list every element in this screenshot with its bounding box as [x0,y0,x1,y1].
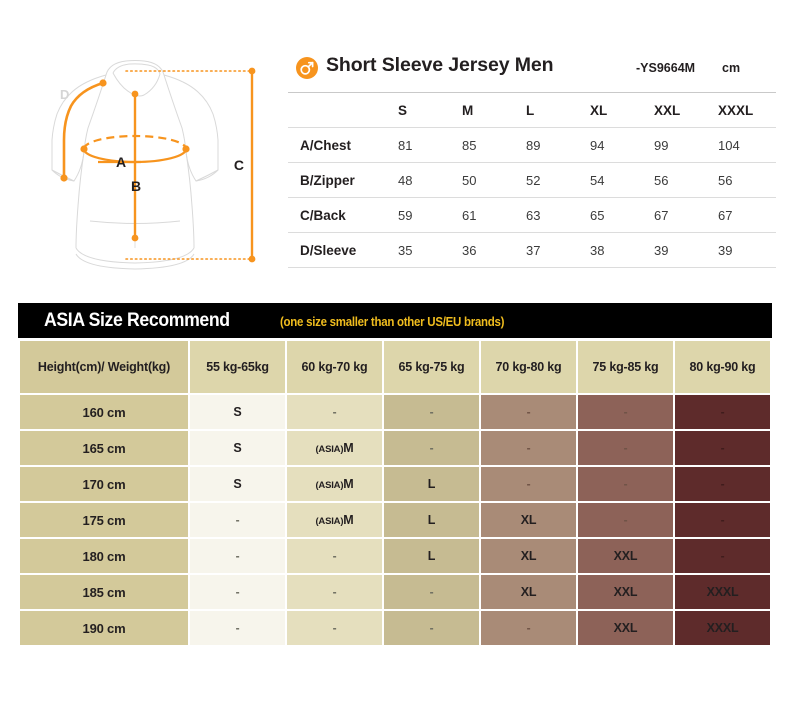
size-value: XL [521,513,537,527]
asia-prefix-label: (ASIA) [315,480,343,491]
c-top-dot [249,68,256,75]
asia-size-cell: - [675,395,770,429]
asia-header-row: Height(cm)/ Weight(kg)55 kg-65kg60 kg-70… [20,341,770,393]
d-top-dot [99,79,106,86]
size-value: XXL [614,585,638,599]
size-value: M [343,477,353,491]
asia-size-cell: - [481,395,576,429]
empty-marker: - [527,441,531,455]
empty-marker: - [624,477,628,491]
size-value: XXL [614,621,638,635]
size-value: L [428,513,435,527]
spec-row-label: C/Back [288,198,392,233]
asia-size-cell: (ASIA)M [287,431,382,465]
unit-label: cm [722,61,740,75]
spec-size-header-XXL: XXL [648,93,712,128]
asia-size-cell: - [190,611,285,645]
spec-cell: 99 [648,128,712,163]
asia-weight-header: 70 kg-80 kg [481,341,576,393]
asia-size-cell: - [481,611,576,645]
asia-size-cell: - [384,431,479,465]
empty-marker: - [333,405,337,419]
spec-header-row: SMLXLXXLXXXL [288,93,776,128]
asia-weight-header: 60 kg-70 kg [287,341,382,393]
spec-row: B/Zipper485052545656 [288,163,776,198]
spec-size-header-M: M [456,93,520,128]
size-value: L [428,549,435,563]
a-left-dot [80,145,87,152]
spec-cell: 54 [584,163,648,198]
spec-cell: 36 [456,233,520,268]
spec-cell: 65 [584,198,648,233]
spec-size-header-L: L [520,93,584,128]
asia-size-cell: - [578,395,673,429]
asia-height-label: 165 cm [20,431,188,465]
asia-weight-header: 65 kg-75 kg [384,341,479,393]
asia-size-cell: - [578,431,673,465]
empty-marker: - [527,477,531,491]
size-value: S [233,477,241,491]
asia-size-cell: - [190,539,285,573]
asia-size-cell: S [190,395,285,429]
asia-height-label: 180 cm [20,539,188,573]
spec-cell: 94 [584,128,648,163]
asia-table-row: 185 cm---XLXXLXXXL [20,575,770,609]
empty-marker: - [624,441,628,455]
spec-cell: 52 [520,163,584,198]
asia-prefix-label: (ASIA) [315,444,343,455]
spec-row-label: B/Zipper [288,163,392,198]
spec-cell: 67 [712,198,776,233]
asia-size-cell: S [190,467,285,501]
spec-panel: Short Sleeve Jersey Men -YS9664M cm SMLX… [288,50,776,268]
asia-size-cell: - [287,539,382,573]
asia-size-cell: - [675,431,770,465]
spec-cell: 39 [648,233,712,268]
asia-table-row: 175 cm-(ASIA)MLXL-- [20,503,770,537]
asia-size-cell: - [384,575,479,609]
asia-banner-note: (one size smaller than other US/EU brand… [280,315,504,329]
asia-size-table: Height(cm)/ Weight(kg)55 kg-65kg60 kg-70… [18,339,772,647]
spec-size-header-XL: XL [584,93,648,128]
empty-marker: - [333,585,337,599]
spec-cell: 35 [392,233,456,268]
asia-size-cell: L [384,539,479,573]
asia-height-label: 160 cm [20,395,188,429]
size-value: M [343,513,353,527]
asia-size-cell: XL [481,503,576,537]
spec-cell: 48 [392,163,456,198]
asia-size-cell: XXL [578,575,673,609]
spec-cell: 38 [584,233,648,268]
asia-height-label: 170 cm [20,467,188,501]
empty-marker: - [333,621,337,635]
asia-table-row: 170 cmS(ASIA)ML--- [20,467,770,501]
asia-size-cell: - [287,575,382,609]
empty-marker: - [721,441,725,455]
size-value: S [233,405,241,419]
asia-size-cell: - [481,431,576,465]
empty-marker: - [236,621,240,635]
page-title: Short Sleeve Jersey Men [326,54,553,77]
asia-banner: ASIA Size Recommend (one size smaller th… [18,303,772,338]
asia-size-cell: - [190,575,285,609]
spec-row: D/Sleeve353637383939 [288,233,776,268]
spec-cell: 50 [456,163,520,198]
size-value: XL [521,549,537,563]
asia-size-cell: XXL [578,611,673,645]
jersey-diagram-svg: A B C D [18,48,280,283]
empty-marker: - [333,549,337,563]
spec-table: SMLXLXXLXXXLA/Chest8185899499104B/Zipper… [288,92,776,268]
size-value: M [343,441,353,455]
product-code: -YS9664M [636,61,695,75]
asia-size-cell: XXXL [675,611,770,645]
asia-size-cell: XXL [578,539,673,573]
asia-size-cell: - [287,611,382,645]
spec-cell: 67 [648,198,712,233]
empty-marker: - [430,405,434,419]
size-value: XXXL [707,621,739,635]
spec-cell: 104 [712,128,776,163]
asia-weight-header: 75 kg-85 kg [578,341,673,393]
asia-banner-title: ASIA Size Recommend [44,310,230,332]
asia-size-cell: L [384,503,479,537]
spec-row: A/Chest8185899499104 [288,128,776,163]
asia-height-label: 185 cm [20,575,188,609]
spec-cell: 56 [648,163,712,198]
spec-size-header-S: S [392,93,456,128]
asia-size-cell: XXXL [675,575,770,609]
asia-size-cell: (ASIA)M [287,467,382,501]
empty-marker: - [430,441,434,455]
empty-marker: - [624,405,628,419]
asia-size-cell: - [675,539,770,573]
asia-size-cell: - [675,503,770,537]
empty-marker: - [721,549,725,563]
size-value: XXL [614,549,638,563]
asia-size-cell: - [287,395,382,429]
spec-size-header-XXXL: XXXL [712,93,776,128]
spec-title-row: Short Sleeve Jersey Men -YS9664M cm [288,50,776,92]
spec-cell: 61 [456,198,520,233]
label-a: A [116,154,126,170]
spec-cell: 39 [712,233,776,268]
empty-marker: - [430,585,434,599]
a-right-dot [182,145,189,152]
spec-row-label: D/Sleeve [288,233,392,268]
spec-cell: 89 [520,128,584,163]
asia-size-cell: - [384,395,479,429]
asia-weight-header: 55 kg-65kg [190,341,285,393]
asia-size-cell: S [190,431,285,465]
empty-marker: - [624,513,628,527]
d-measure-line [64,83,103,178]
label-b: B [131,178,141,194]
empty-marker: - [527,621,531,635]
asia-table-row: 165 cmS(ASIA)M---- [20,431,770,465]
male-symbol-icon [296,57,318,79]
b-top-dot [132,91,139,98]
asia-table-row: 180 cm--LXLXXL- [20,539,770,573]
spec-cell: 59 [392,198,456,233]
empty-marker: - [527,405,531,419]
empty-marker: - [721,477,725,491]
size-value: L [428,477,435,491]
jersey-measurement-diagram: A B C D [18,48,280,283]
d-bottom-dot [60,174,67,181]
asia-size-cell: - [190,503,285,537]
label-d: D [60,87,69,102]
spec-row-label: A/Chest [288,128,392,163]
spec-cell: 56 [712,163,776,198]
empty-marker: - [430,621,434,635]
asia-size-cell: - [675,467,770,501]
b-bottom-dot [132,235,139,242]
asia-size-cell: - [384,611,479,645]
asia-table-row: 190 cm----XXLXXXL [20,611,770,645]
empty-marker: - [236,513,240,527]
spec-cell: 81 [392,128,456,163]
asia-height-label: 190 cm [20,611,188,645]
asia-size-panel: ASIA Size Recommend (one size smaller th… [18,303,772,647]
asia-height-label: 175 cm [20,503,188,537]
asia-size-cell: L [384,467,479,501]
empty-marker: - [721,513,725,527]
empty-marker: - [721,405,725,419]
asia-size-cell: - [481,467,576,501]
size-value: XXXL [707,585,739,599]
size-value: XL [521,585,537,599]
asia-size-cell: - [578,503,673,537]
spec-row: C/Back596163656767 [288,198,776,233]
asia-size-cell: (ASIA)M [287,503,382,537]
asia-weight-header: 80 kg-90 kg [675,341,770,393]
size-chart-page: A B C D Short Sleeve Jersey Men -YS9664M… [0,0,790,707]
asia-table-row: 160 cmS----- [20,395,770,429]
spec-cell: 85 [456,128,520,163]
asia-size-cell: XL [481,539,576,573]
c-bottom-dot [249,256,256,263]
spec-cell: 63 [520,198,584,233]
empty-marker: - [236,585,240,599]
empty-marker: - [236,549,240,563]
asia-prefix-label: (ASIA) [315,516,343,527]
spec-cell: 37 [520,233,584,268]
asia-corner-cell: Height(cm)/ Weight(kg) [20,341,188,393]
spec-corner-cell [288,93,392,128]
size-value: S [233,441,241,455]
asia-size-cell: XL [481,575,576,609]
asia-size-cell: - [578,467,673,501]
label-c: C [234,157,244,173]
